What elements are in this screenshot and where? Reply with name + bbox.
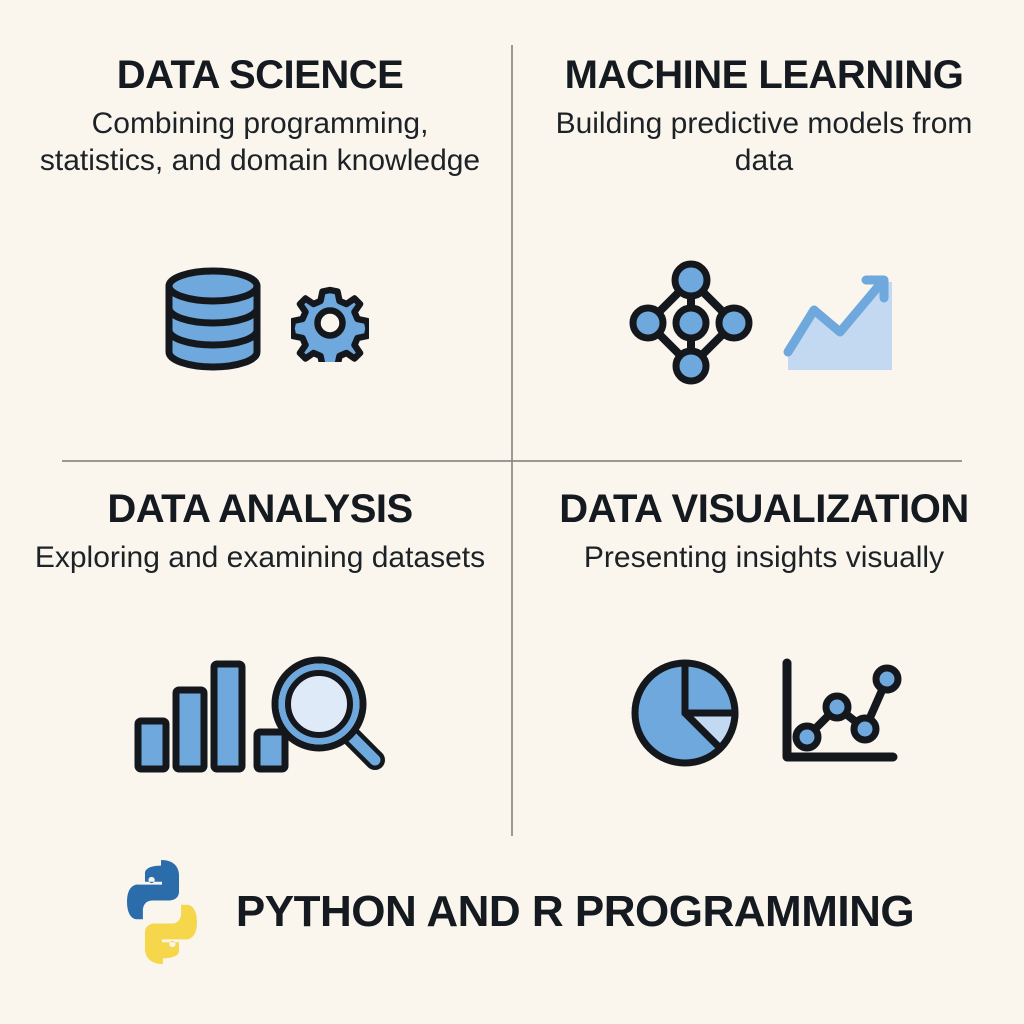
machine-learning-title: MACHINE LEARNING [534, 52, 994, 98]
data-visualization-icons [625, 591, 903, 836]
database-icon [151, 258, 281, 388]
machine-learning-icons [626, 193, 903, 452]
data-analysis-title: DATA ANALYSIS [30, 486, 490, 532]
data-analysis-icons [128, 591, 393, 836]
line-chart-icon [773, 653, 903, 773]
gear-icon [291, 284, 369, 362]
quadrant-machine-learning: MACHINE LEARNING Building predictive mod… [534, 52, 994, 452]
pie-chart-icon [625, 653, 745, 773]
machine-learning-subtitle: Building predictive models from data [534, 106, 994, 179]
data-visualization-subtitle: Presenting insights visually [534, 540, 994, 577]
horizontal-divider [62, 460, 962, 462]
data-science-icons [151, 193, 369, 452]
quadrant-data-science: DATA SCIENCE Combining programming, stat… [30, 52, 490, 452]
data-analysis-subtitle: Exploring and examining datasets [30, 540, 490, 577]
banner-label: PYTHON AND R PROGRAMMING [236, 887, 914, 937]
neural-network-icon [626, 258, 756, 388]
area-chart-growth-icon [778, 260, 903, 385]
bar-chart-icon [128, 648, 253, 778]
magnifying-glass-icon [253, 648, 393, 778]
data-visualization-title: DATA VISUALIZATION [534, 486, 994, 532]
infographic-canvas: DATA SCIENCE Combining programming, stat… [0, 0, 1024, 1024]
data-science-subtitle: Combining programming, statistics, and d… [30, 106, 490, 179]
vertical-divider [511, 45, 513, 836]
python-logo [110, 860, 214, 964]
quadrant-data-analysis: DATA ANALYSIS Exploring and examining da… [30, 486, 490, 836]
quadrant-data-visualization: DATA VISUALIZATION Presenting insights v… [534, 486, 994, 836]
data-science-title: DATA SCIENCE [30, 52, 490, 98]
bottom-banner: PYTHON AND R PROGRAMMING [0, 852, 1024, 972]
